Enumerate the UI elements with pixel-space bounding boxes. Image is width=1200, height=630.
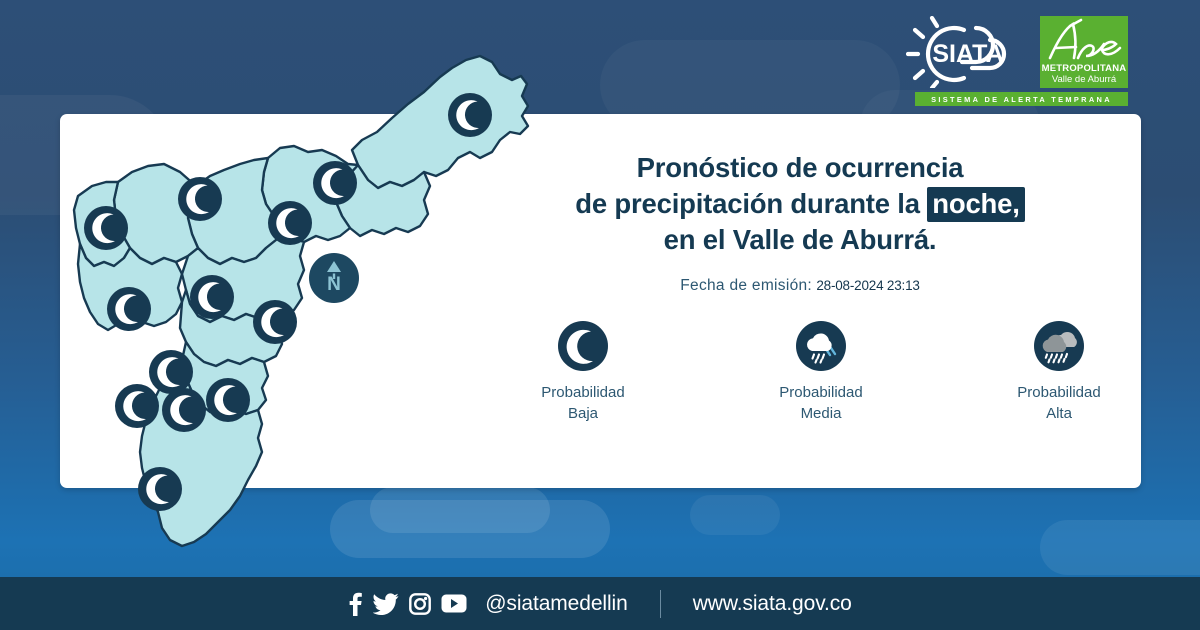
title-highlight-noche: noche, bbox=[927, 187, 1024, 222]
youtube-icon[interactable] bbox=[441, 594, 467, 613]
legend-alta-line1: Probabilidad bbox=[1017, 382, 1100, 403]
area-script-icon bbox=[1040, 18, 1128, 64]
facebook-icon[interactable] bbox=[348, 592, 363, 616]
background-cloud bbox=[370, 487, 550, 533]
area-metropolitana-line1: METROPOLITANA bbox=[1042, 63, 1127, 74]
title-line-1: Pronóstico de ocurrencia bbox=[470, 150, 1130, 186]
cloud-moon-rain-icon bbox=[796, 321, 846, 371]
legend-media-line2: Media bbox=[779, 403, 862, 424]
siata-wordmark: SIATA bbox=[932, 40, 1003, 68]
social-handle[interactable]: @siatamedellin bbox=[485, 592, 627, 616]
footer-bar: @siatamedellin www.siata.gov.co bbox=[0, 577, 1200, 630]
legend-label-baja: Probabilidad Baja bbox=[541, 382, 624, 424]
instagram-icon[interactable] bbox=[409, 593, 431, 615]
title-line-3: en el Valle de Aburrá. bbox=[470, 222, 1130, 258]
footer-divider bbox=[660, 590, 661, 618]
probability-legend: Probabilidad Baja Probabilidad bbox=[470, 321, 1130, 424]
legend-baja-line1: Probabilidad bbox=[541, 382, 624, 403]
legend-item-baja: Probabilidad Baja bbox=[518, 321, 648, 424]
title-line-2: de precipitación durante la noche, bbox=[470, 186, 1130, 222]
area-metropolitana-line2: Valle de Aburrá bbox=[1052, 74, 1116, 85]
legend-label-media: Probabilidad Media bbox=[779, 382, 862, 424]
title-line-2-text: de precipitación durante la bbox=[575, 188, 927, 219]
siata-tagline-bar: SISTEMA DE ALERTA TEMPRANA bbox=[915, 92, 1128, 106]
twitter-icon[interactable] bbox=[373, 592, 399, 616]
emission-value: 28-08-2024 23:13 bbox=[816, 278, 919, 293]
legend-label-alta: Probabilidad Alta bbox=[1017, 382, 1100, 424]
legend-media-line1: Probabilidad bbox=[779, 382, 862, 403]
legend-alta-line2: Alta bbox=[1017, 403, 1100, 424]
website-url[interactable]: www.siata.gov.co bbox=[693, 592, 852, 616]
legend-item-media: Probabilidad Media bbox=[756, 321, 886, 424]
background-cloud bbox=[1040, 520, 1200, 575]
emission-date: Fecha de emisión: 28-08-2024 23:13 bbox=[470, 277, 1130, 295]
emission-label: Fecha de emisión: bbox=[680, 277, 812, 294]
legend-item-alta: Probabilidad Alta bbox=[994, 321, 1124, 424]
siata-logo: SIATA bbox=[906, 16, 1031, 88]
area-metropolitana-logo: METROPOLITANA Valle de Aburrá bbox=[1040, 16, 1128, 88]
siata-tagline-text: SISTEMA DE ALERTA TEMPRANA bbox=[931, 95, 1112, 104]
moon-icon bbox=[558, 321, 608, 371]
page-title: Pronóstico de ocurrencia de precipitació… bbox=[470, 150, 1130, 258]
legend-baja-line2: Baja bbox=[541, 403, 624, 424]
background-cloud bbox=[690, 495, 780, 535]
forecast-content: Pronóstico de ocurrencia de precipitació… bbox=[470, 150, 1130, 424]
logo-group: SIATA METROPOLITANA Valle de Aburrá bbox=[906, 16, 1128, 88]
cloud-heavy-rain-icon bbox=[1034, 321, 1084, 371]
social-icons bbox=[348, 592, 467, 616]
